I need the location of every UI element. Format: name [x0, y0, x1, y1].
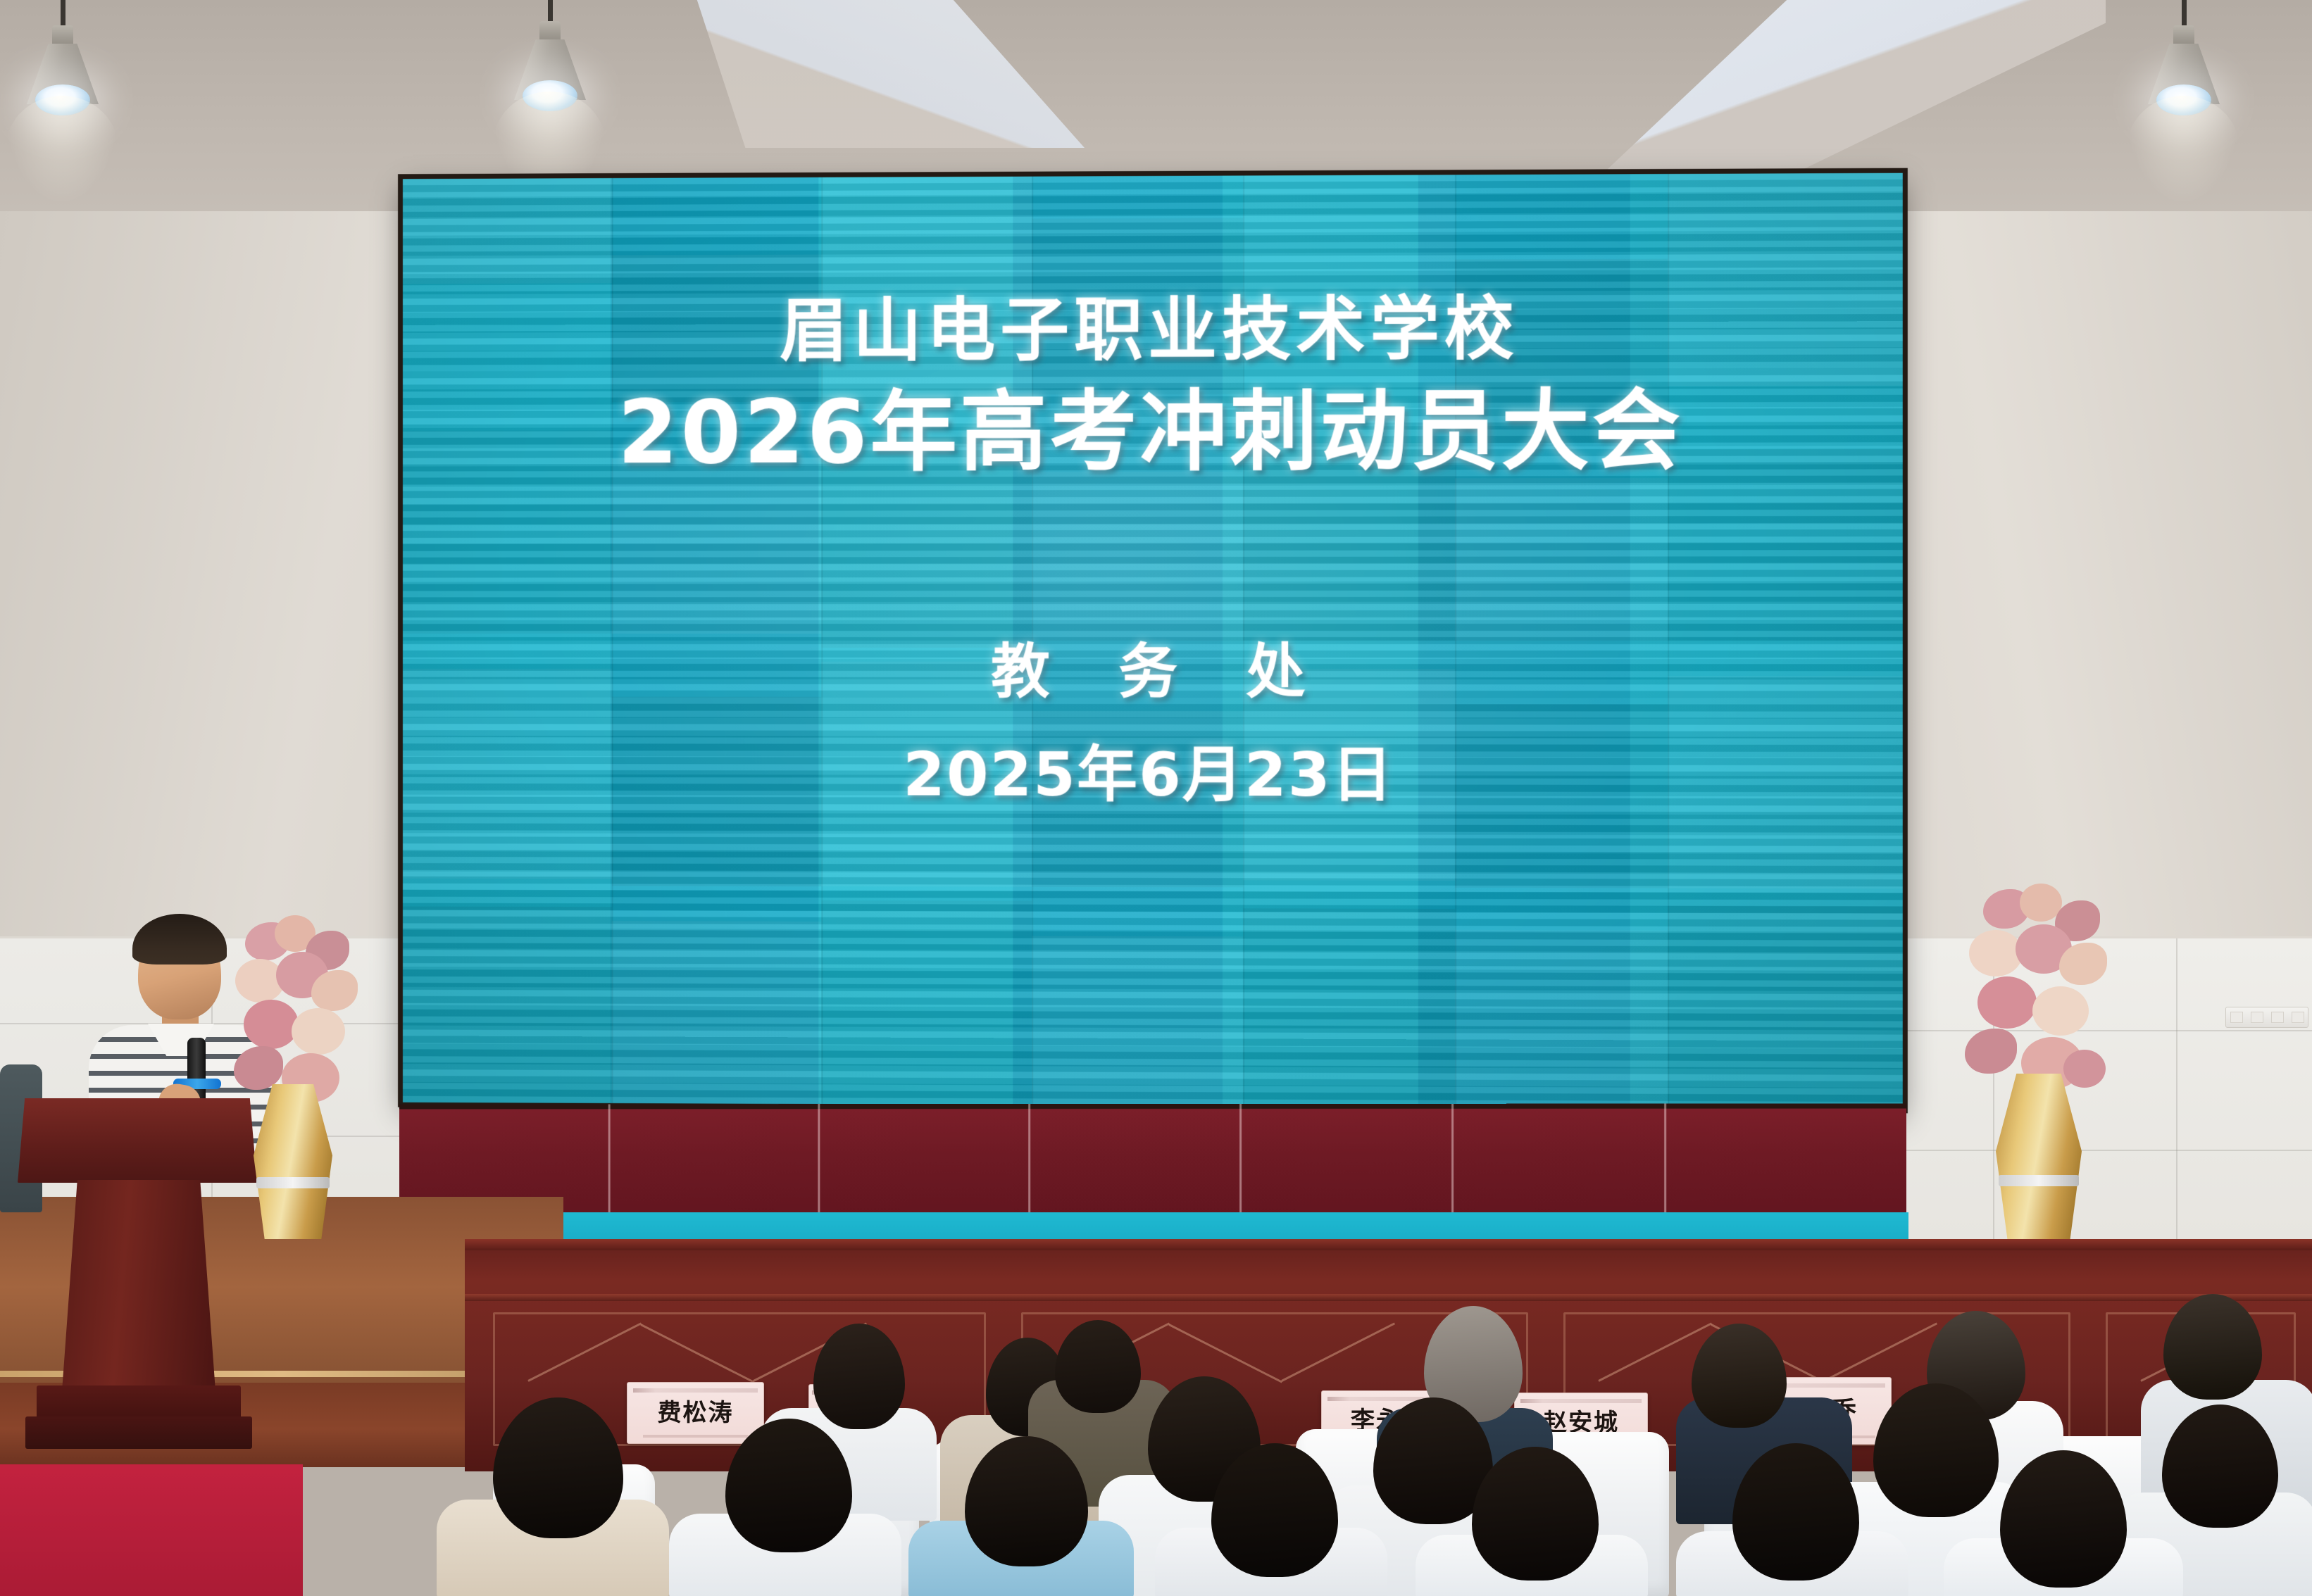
slide-date: 2025年6月23日	[903, 725, 1394, 814]
led-slide-content: 眉山电子职业技术学校 2026年高考冲刺动员大会 教 务 处 2025年6月23…	[403, 173, 1903, 1109]
podium	[21, 1098, 254, 1493]
name-placard: 费松涛	[627, 1382, 764, 1444]
slide-event-title: 2026年高考冲刺动员大会	[618, 385, 1683, 479]
placard-name: 费松涛	[658, 1401, 734, 1425]
stage-backdrop-skirt	[399, 1103, 1906, 1218]
auditorium-scene: 眉山电子职业技术学校 2026年高考冲刺动员大会 教 务 处 2025年6月23…	[0, 0, 2312, 1596]
slide-department: 教 务 处	[967, 624, 1329, 710]
placard-name: 赵安城	[1543, 1411, 1619, 1435]
slide-school-name: 眉山电子职业技术学校	[780, 293, 1519, 367]
artificial-flower-arrangement	[232, 915, 359, 1239]
led-video-wall: 眉山电子职业技术学校 2026年高考冲刺动员大会 教 务 处 2025年6月23…	[403, 173, 1903, 1109]
artificial-flower-arrangement	[1965, 884, 2113, 1243]
wall-light-switch-panel[interactable]	[2225, 1007, 2308, 1028]
